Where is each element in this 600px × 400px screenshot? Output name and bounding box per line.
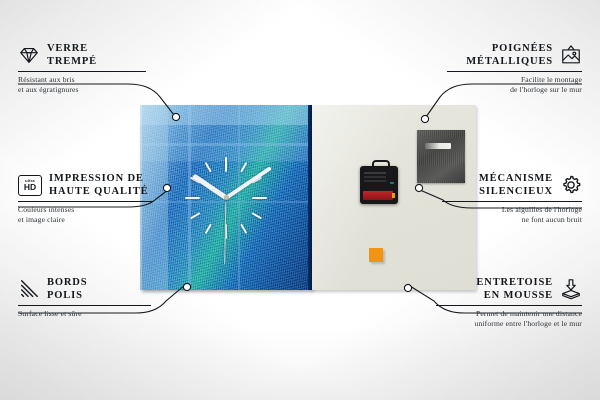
callout-divider bbox=[447, 71, 582, 72]
callout-mecanisme-silencieux: MÉCANISME SILENCIEUX Les aiguilles de l'… bbox=[442, 172, 582, 226]
callout-desc-line1: Surface lisse et sûre bbox=[18, 309, 143, 319]
callout-divider bbox=[442, 201, 582, 202]
clock-hour-hand bbox=[191, 173, 227, 200]
callout-title-line1: ENTRETOISE bbox=[476, 276, 553, 289]
callout-poignees-metalliques: POIGNÉES MÉTALLIQUES Facilite le montage… bbox=[447, 42, 582, 96]
callout-desc-line1: Facilite le montage bbox=[447, 75, 582, 85]
picture-hanger-icon bbox=[560, 44, 582, 66]
callout-title-line1: BORDS bbox=[47, 276, 87, 289]
callout-impression-haute-qualite: ultra HD IMPRESSION DE HAUTE QUALITÉ Cou… bbox=[18, 172, 153, 226]
orange-foam-spacer bbox=[369, 248, 383, 262]
callout-title-line1: IMPRESSION DE bbox=[49, 172, 148, 185]
callout-desc-line1: Résistant aux bris bbox=[18, 75, 138, 85]
foam-spacer-icon bbox=[560, 278, 582, 300]
polished-edge-icon bbox=[18, 278, 40, 300]
callout-title-line2: MÉTALLIQUES bbox=[466, 55, 553, 68]
gear-icon bbox=[560, 174, 582, 196]
callout-title-line2: SILENCIEUX bbox=[479, 185, 553, 198]
silent-clock-mechanism bbox=[360, 166, 398, 204]
callout-title-line1: MÉCANISME bbox=[479, 172, 553, 185]
callout-desc-line2: et aux égratignures bbox=[18, 85, 138, 95]
callout-title-line2: EN MOUSSE bbox=[476, 289, 553, 302]
callout-bords-polis: BORDS POLIS Surface lisse et sûre bbox=[18, 276, 143, 319]
clock-minute-hand bbox=[225, 166, 272, 200]
callout-desc-line2: uniforme entre l'horloge et le mur bbox=[436, 319, 582, 329]
callout-divider bbox=[18, 71, 146, 72]
callout-verre-trempe: VERRE TREMPÉ Résistant aux bris et aux é… bbox=[18, 42, 138, 96]
callout-title-line2: TREMPÉ bbox=[47, 55, 97, 68]
clock-center-pin bbox=[224, 195, 229, 200]
callout-desc-line1: Couleurs intenses bbox=[18, 205, 153, 215]
callout-desc-line1: Les aiguilles de l'horloge bbox=[442, 205, 582, 215]
clock-front-panel bbox=[140, 105, 312, 290]
ultra-hd-icon-large-text: HD bbox=[24, 183, 36, 192]
aa-battery bbox=[363, 191, 393, 200]
product-image bbox=[140, 105, 476, 290]
callout-title-line2: HAUTE QUALITÉ bbox=[49, 185, 148, 198]
callout-desc-line2: et image claire bbox=[18, 215, 153, 225]
callout-divider bbox=[18, 201, 153, 202]
callout-desc-line2: ne font aucun bruit bbox=[442, 215, 582, 225]
callout-desc-line2: de l'horloge sur le mur bbox=[447, 85, 582, 95]
clock-dial bbox=[140, 105, 312, 290]
callout-title-line2: POLIS bbox=[47, 289, 87, 302]
callout-desc-line1: Permet de maintenir une distance bbox=[436, 309, 582, 319]
infographic-canvas: VERRE TREMPÉ Résistant aux bris et aux é… bbox=[0, 0, 600, 400]
callout-title-line1: POIGNÉES bbox=[466, 42, 553, 55]
callout-entretoise-en-mousse: ENTRETOISE EN MOUSSE Permet de maintenir… bbox=[436, 276, 582, 330]
ultra-hd-icon: ultra HD bbox=[18, 175, 42, 196]
callout-title-line1: VERRE bbox=[47, 42, 97, 55]
callout-divider bbox=[436, 305, 582, 306]
callout-divider bbox=[18, 305, 151, 306]
diamond-icon bbox=[18, 44, 40, 66]
